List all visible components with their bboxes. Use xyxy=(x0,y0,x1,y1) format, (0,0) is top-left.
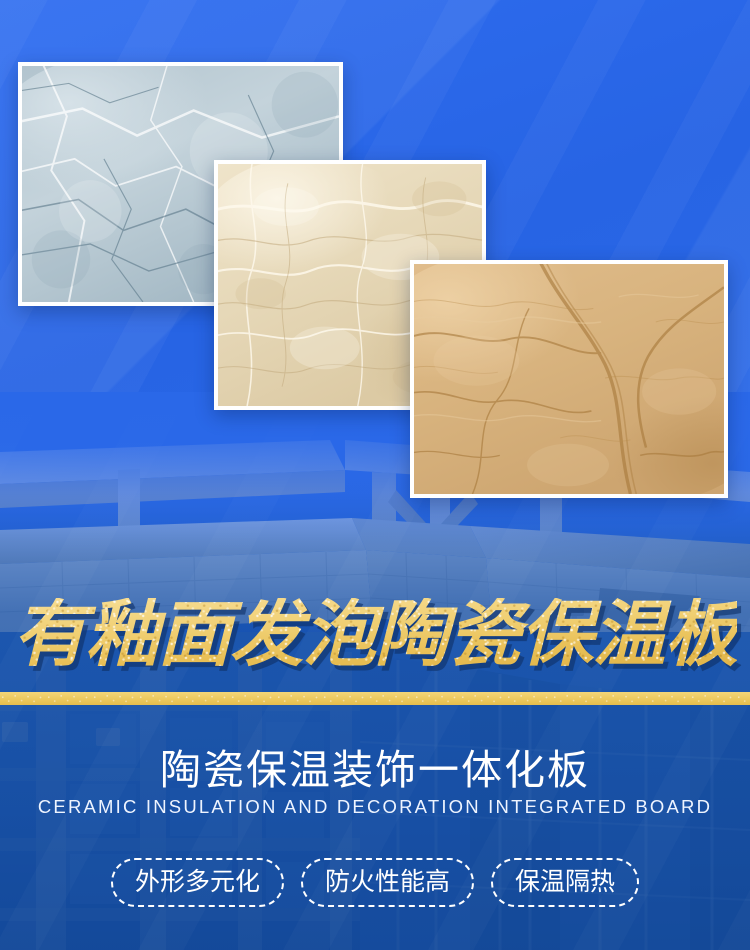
feature-badge-list: 外形多元化 防火性能高 保温隔热 xyxy=(0,858,750,907)
page-title: 有釉面发泡陶瓷保温板 xyxy=(13,598,737,670)
subtitle-chinese: 陶瓷保温装饰一体化板 xyxy=(0,736,750,796)
feature-badge-shape-variety[interactable]: 外形多元化 xyxy=(111,858,284,907)
tile-sample-amber-marble[interactable] xyxy=(410,260,728,498)
feature-badge-thermal-insulation[interactable]: 保温隔热 xyxy=(491,858,639,907)
feature-badge-fire-resistance[interactable]: 防火性能高 xyxy=(301,858,474,907)
product-promo-banner: 有釉面发泡陶瓷保温板 陶瓷保温装饰一体化板 CERAMIC INSULATION… xyxy=(0,0,750,950)
gold-divider-rule xyxy=(0,692,750,705)
subtitle-english: CERAMIC INSULATION AND DECORATION INTEGR… xyxy=(0,796,750,818)
headline-container: 有釉面发泡陶瓷保温板 xyxy=(0,586,750,682)
